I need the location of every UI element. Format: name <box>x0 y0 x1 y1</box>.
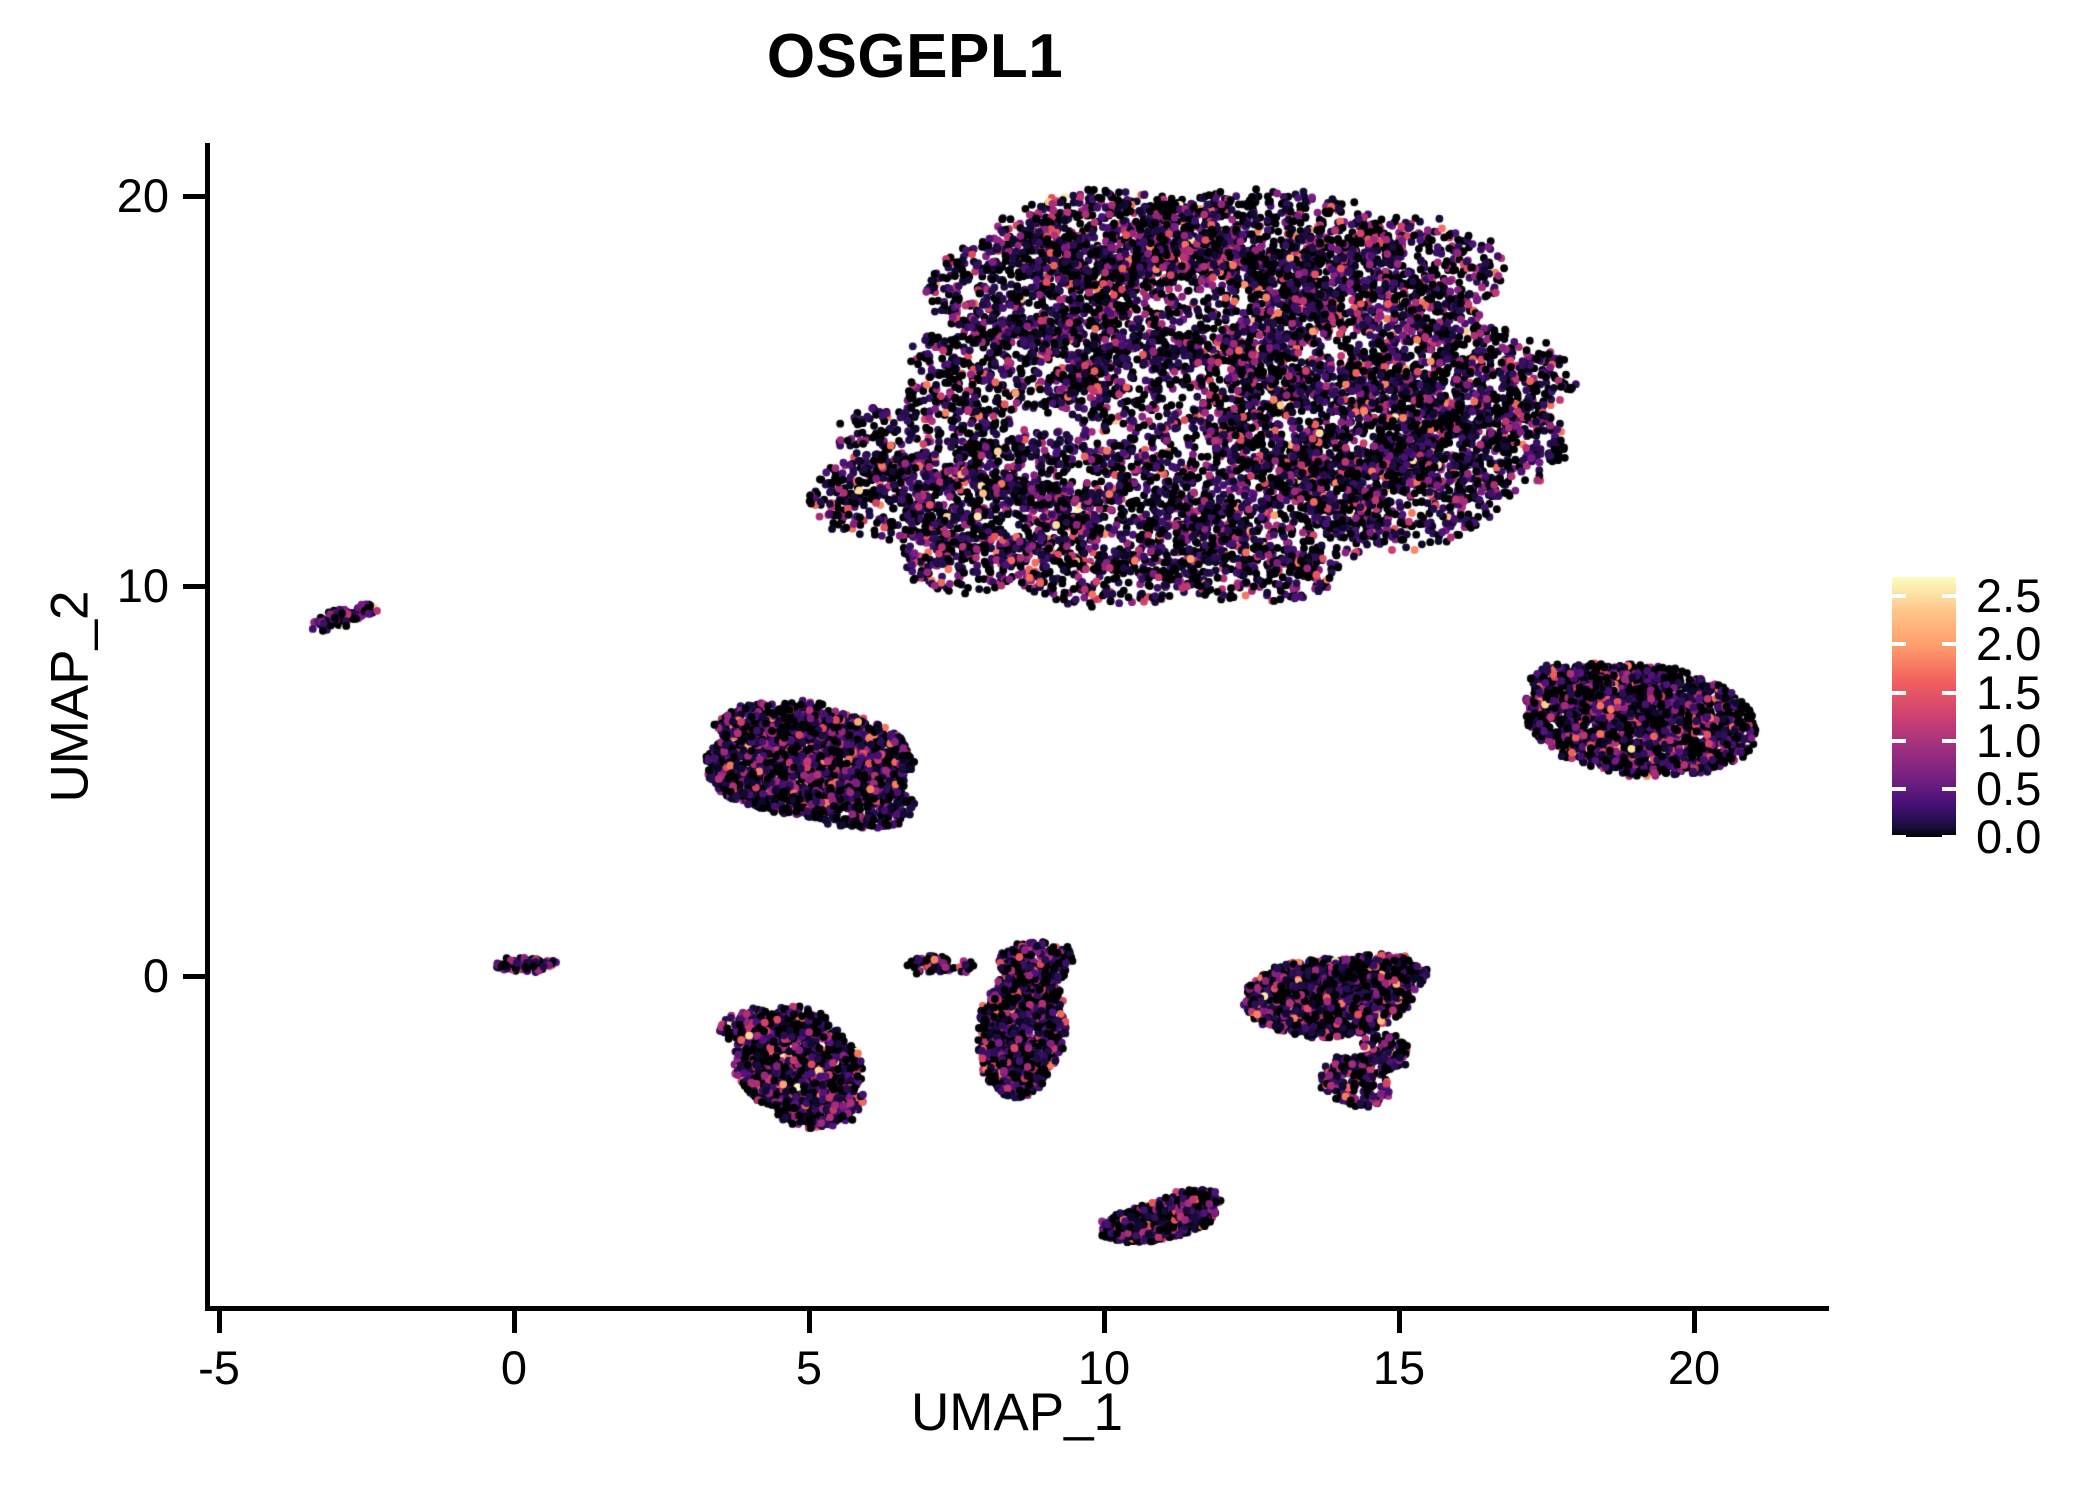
x-tick-label: 15 <box>1299 1344 1499 1391</box>
colorbar-tick-mark <box>1892 739 1906 743</box>
y-axis-label: UMAP_2 <box>44 397 97 997</box>
y-tick-mark <box>183 194 205 199</box>
x-tick-mark <box>217 1311 222 1333</box>
colorbar-tick-mark <box>1892 835 1906 839</box>
colorbar-tick-mark <box>1942 787 1956 791</box>
colorbar-tick-mark <box>1892 642 1906 646</box>
colorbar-tick-label: 1.5 <box>1976 669 2041 716</box>
x-tick-mark <box>1397 1311 1402 1333</box>
x-tick-mark <box>1102 1311 1107 1333</box>
colorbar-tick-mark <box>1942 594 1956 598</box>
x-tick-label: 20 <box>1594 1344 1794 1391</box>
colorbar-tick-label: 0.5 <box>1976 765 2041 812</box>
x-axis-line <box>205 1306 1829 1311</box>
x-tick-label: -5 <box>119 1344 319 1391</box>
colorbar-tick-label: 2.5 <box>1976 572 2041 619</box>
colorbar-tick-label: 1.0 <box>1976 717 2041 764</box>
colorbar-tick-label: 0.0 <box>1976 813 2041 860</box>
colorbar-tick-mark <box>1942 642 1956 646</box>
y-tick-mark <box>183 974 205 979</box>
x-tick-label: 5 <box>709 1344 909 1391</box>
x-tick-label: 0 <box>414 1344 614 1391</box>
x-tick-mark <box>807 1311 812 1333</box>
colorbar-tick-mark <box>1942 739 1956 743</box>
y-tick-label: 20 <box>9 172 169 219</box>
colorbar-tick-mark <box>1892 787 1906 791</box>
page-title: OSGEPL1 <box>0 26 1830 88</box>
colorbar-tick-mark <box>1892 594 1906 598</box>
y-tick-mark <box>183 584 205 589</box>
x-axis-label: UMAP_1 <box>205 1386 1829 1439</box>
y-axis-line <box>205 143 210 1311</box>
colorbar-tick-mark <box>1942 835 1956 839</box>
x-tick-mark <box>1692 1311 1697 1333</box>
x-tick-mark <box>512 1311 517 1333</box>
colorbar-tick-mark <box>1942 691 1956 695</box>
colorbar-legend: 2.52.01.51.00.50.0 <box>1892 577 2092 837</box>
scatter-plot-canvas <box>0 0 2100 1500</box>
colorbar-gradient <box>1892 577 1956 837</box>
colorbar-tick-label: 2.0 <box>1976 620 2041 667</box>
colorbar-tick-mark <box>1892 691 1906 695</box>
umap-feature-plot: OSGEPL1 01020 -505101520 UMAP_1 UMAP_2 2… <box>0 0 2100 1500</box>
